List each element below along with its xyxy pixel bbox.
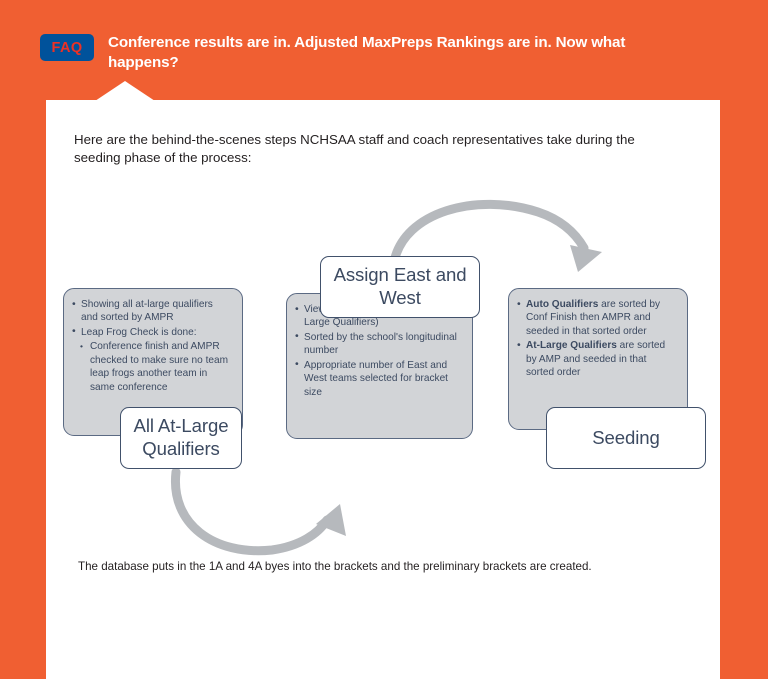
bullet-item: Auto Qualifiers are sorted by Conf Finis…: [517, 298, 676, 338]
seeding-process-diagram: Showing all at-large qualifiers and sort…: [46, 100, 720, 570]
card-pointer-triangle: [95, 81, 155, 101]
step-1-label: All At-Large Qualifiers: [127, 415, 235, 460]
step-2-label-box: Assign East and West: [320, 256, 480, 318]
step-3-label-box: Seeding: [546, 407, 706, 469]
bullet-bold-prefix: At-Large Qualifiers: [526, 340, 617, 351]
arrow-step1-to-step2-icon: [175, 472, 346, 551]
bullet-bold-prefix: Auto Qualifiers: [526, 299, 598, 310]
step-1-bullet-list: Showing all at-large qualifiers and sort…: [72, 298, 231, 394]
bullet-item: At-Large Qualifiers are sorted by AMP an…: [517, 339, 676, 379]
bullet-item: Showing all at-large qualifiers and sort…: [72, 298, 231, 325]
faq-badge: FAQ: [40, 34, 94, 61]
step-1-label-box: All At-Large Qualifiers: [120, 407, 242, 469]
bullet-item: Sorted by the school's longitudinal numb…: [295, 331, 461, 358]
bullet-item: Leap Frog Check is done:: [72, 326, 231, 339]
bullet-item-sub: Conference finish and AMPR checked to ma…: [72, 340, 231, 394]
bullet-item: Appropriate number of East and West team…: [295, 359, 461, 399]
step-3-bullet-list: Auto Qualifiers are sorted by Conf Finis…: [517, 298, 676, 380]
outro-paragraph: The database puts in the 1A and 4A byes …: [78, 559, 688, 575]
faq-question-title: Conference results are in. Adjusted MaxP…: [108, 33, 698, 73]
step-2-label: Assign East and West: [327, 264, 473, 309]
step-3-label: Seeding: [592, 427, 660, 450]
